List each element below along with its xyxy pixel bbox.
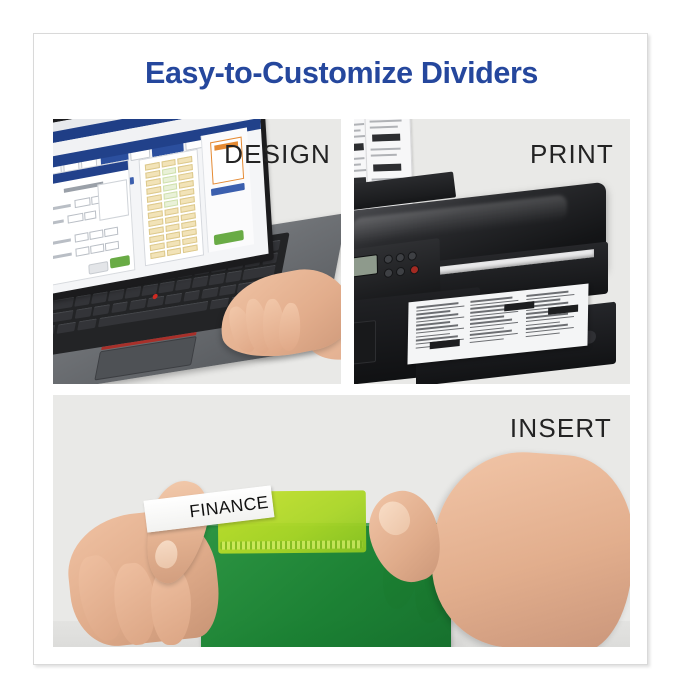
panel-label-insert: INSERT <box>510 413 612 444</box>
printer-button[interactable] <box>408 251 417 261</box>
hand-on-keyboard <box>179 263 341 384</box>
label-cell-grid <box>145 156 198 259</box>
template-preview <box>139 149 205 267</box>
panel-label-design: DESIGN <box>224 139 331 170</box>
panel-insert: FINANCE INSERT <box>53 395 630 647</box>
printer-button[interactable] <box>384 254 393 264</box>
panel-label-print: PRINT <box>530 139 614 170</box>
printer-button[interactable] <box>396 253 405 263</box>
left-thumb-nail <box>153 538 180 570</box>
cartridge-door[interactable] <box>354 320 376 365</box>
right-hand-palm <box>426 446 630 647</box>
finance-label-text: FINANCE <box>188 491 270 522</box>
rail-action-button[interactable] <box>211 183 245 196</box>
printer-button[interactable] <box>396 267 405 277</box>
panel-design: DESIGN <box>53 119 341 384</box>
design-settings-form <box>53 160 135 288</box>
tab-pocket-seam <box>220 540 362 549</box>
product-image-card: Easy-to-Customize Dividers <box>33 33 648 665</box>
printer-power-button[interactable] <box>410 265 419 275</box>
panel-print: PRINT <box>354 119 630 384</box>
printer-lcd-display <box>354 254 378 279</box>
printer-button[interactable] <box>384 268 393 278</box>
page-title: Easy-to-Customize Dividers <box>34 56 649 91</box>
apply-button[interactable] <box>214 230 244 246</box>
right-thumb-nail <box>373 496 415 540</box>
